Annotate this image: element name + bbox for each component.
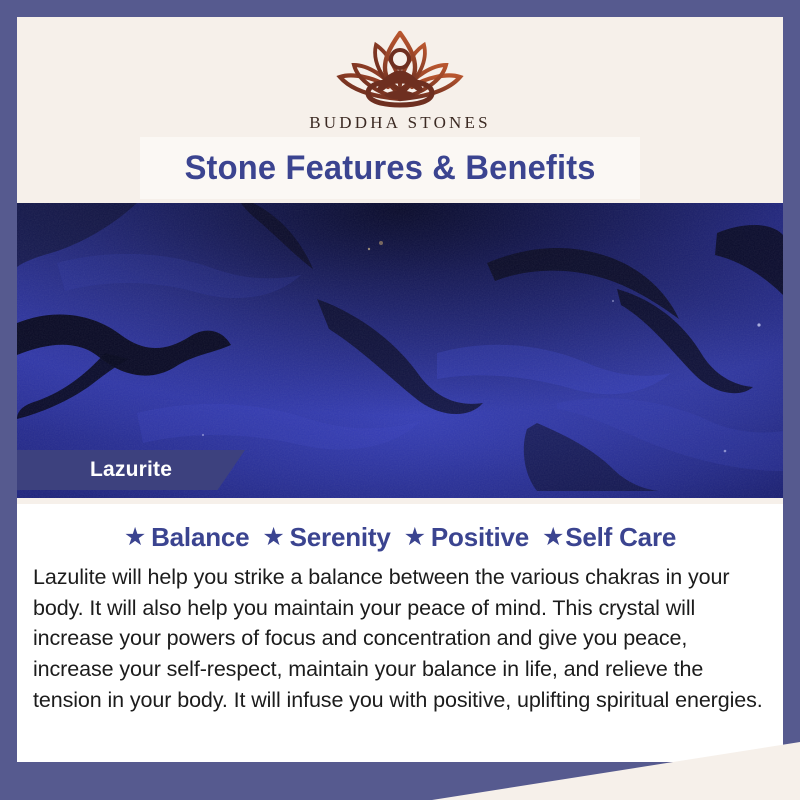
keyword-label: Serenity [290,522,391,553]
keyword-label: Positive [431,522,529,553]
content-card: ★ Balance ★ Serenity ★ Positive ★ Self C… [17,504,783,762]
stone-description: Lazulite will help you strike a balance … [33,562,767,716]
keyword-self-care: ★ Self Care [542,522,676,553]
stone-photo: Lazurite [17,203,783,498]
star-icon: ★ [262,525,284,550]
brand-name: BUDDHA STONES [309,113,491,133]
keyword-label: Self Care [565,522,676,553]
keyword-positive: ★ Positive [404,522,529,553]
stone-benefits-poster: BUDDHA STONES Stone Features & Benefits [0,0,800,800]
brand-logo: BUDDHA STONES [17,25,783,133]
frame-border-top [0,0,800,17]
keyword-list: ★ Balance ★ Serenity ★ Positive ★ Self C… [29,504,771,553]
star-icon: ★ [542,525,564,550]
keyword-serenity: ★ Serenity [262,522,390,553]
frame-border-left [0,0,17,800]
lotus-meditation-figure-icon [316,25,484,111]
star-icon: ★ [404,525,426,550]
star-icon: ★ [124,525,146,550]
title-box: Stone Features & Benefits [140,137,640,199]
poster-page: BUDDHA STONES Stone Features & Benefits [17,17,783,762]
page-title: Stone Features & Benefits [184,149,595,188]
title-band: Stone Features & Benefits [17,145,783,203]
brand-header: BUDDHA STONES [17,17,783,145]
stone-name: Lazurite [90,458,172,482]
keyword-label: Balance [151,522,249,553]
frame-border-right [783,0,800,800]
stone-name-ribbon: Lazurite [17,450,245,490]
keyword-balance: ★ Balance [124,522,250,553]
